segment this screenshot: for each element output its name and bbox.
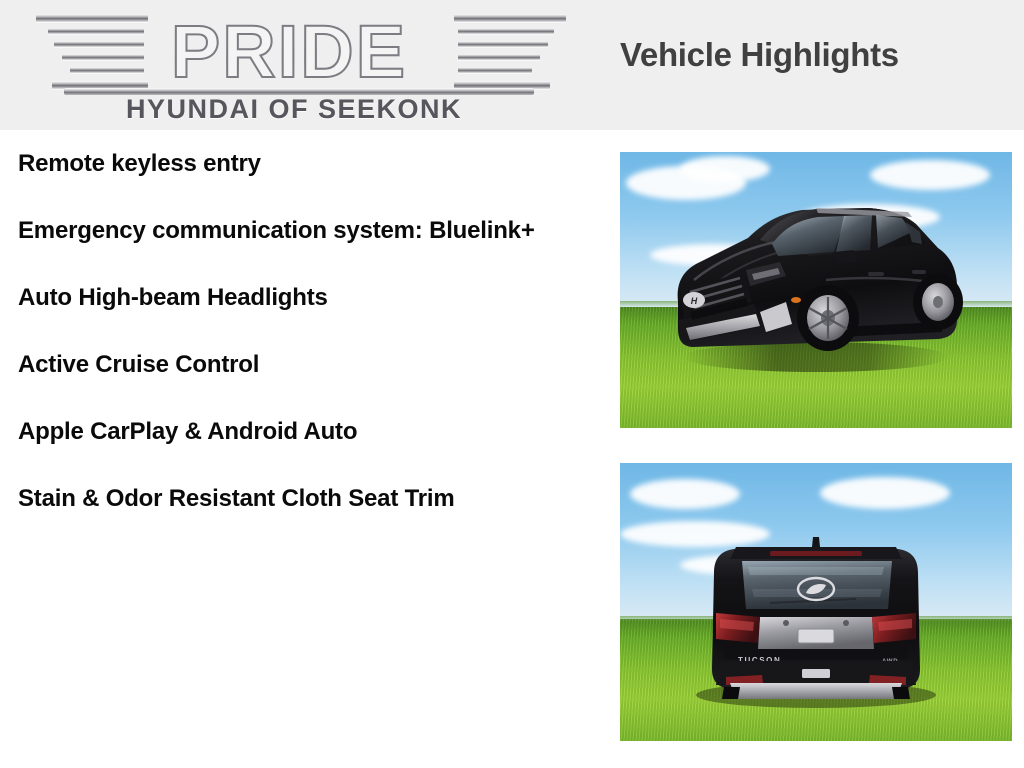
page-title: Vehicle Highlights: [620, 36, 899, 74]
logo-wordmark: PRIDE: [124, 10, 454, 94]
highlight-item: Stain & Odor Resistant Cloth Seat Trim: [18, 483, 593, 514]
header-bar: PRIDE HYUNDAI OF SEEKONK Vehicle Highlig…: [0, 0, 1024, 130]
dealer-logo[interactable]: PRIDE HYUNDAI OF SEEKONK: [14, 4, 604, 128]
vehicle-photo-rear[interactable]: TUCSON AWD: [620, 463, 1012, 741]
logo-wing-right-icon: [454, 14, 572, 92]
vehicle-highlights-list: Remote keyless entry Emergency communica…: [18, 148, 593, 550]
highlight-item: Auto High-beam Headlights: [18, 282, 593, 313]
vehicle-highlights-page: PRIDE HYUNDAI OF SEEKONK Vehicle Highlig…: [0, 0, 1024, 768]
highlight-item: Apple CarPlay & Android Auto: [18, 416, 593, 447]
vehicle-photo-front[interactable]: H: [620, 152, 1012, 428]
vehicle-illustration-rear: TUCSON AWD: [620, 463, 1012, 741]
highlight-item: Active Cruise Control: [18, 349, 593, 380]
highlight-item: Emergency communication system: Bluelink…: [18, 215, 593, 246]
dealer-name-text: HYUNDAI OF SEEKONK: [14, 94, 574, 124]
highlight-item: Remote keyless entry: [18, 148, 593, 179]
svg-text:H: H: [691, 296, 698, 306]
vehicle-illustration-front: H: [620, 152, 1012, 428]
